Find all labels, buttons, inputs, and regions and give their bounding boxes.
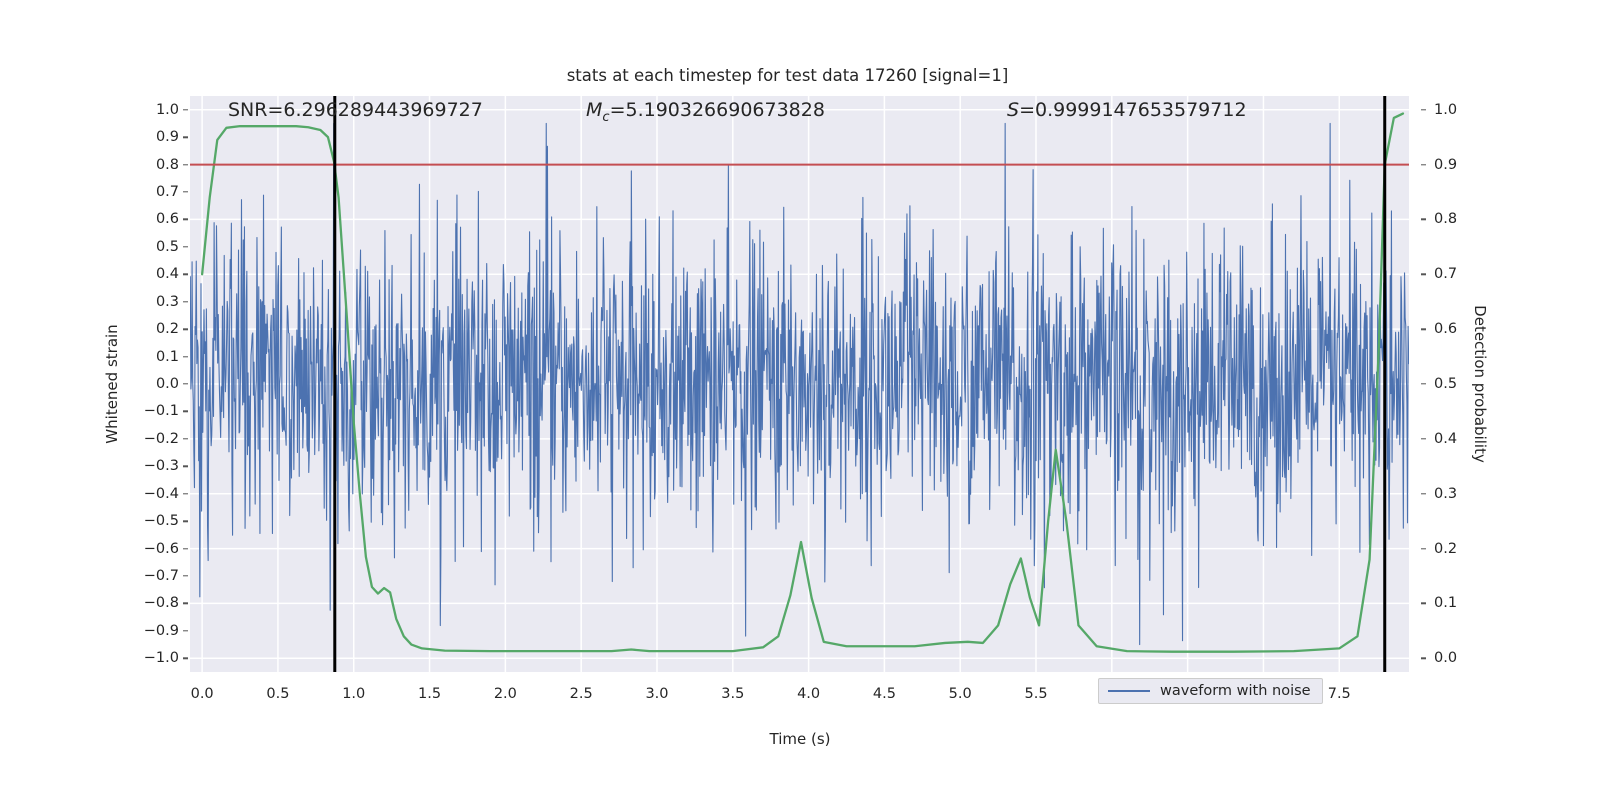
x-tick: 2.5 xyxy=(541,686,621,702)
annotation-chirp-mass: Mc=5.190326690673828 xyxy=(586,99,825,125)
y-tick-left: 0.7 xyxy=(119,184,179,200)
x-tick: 4.0 xyxy=(769,686,849,702)
y-tick-mark-left xyxy=(183,438,188,439)
x-tick: 1.5 xyxy=(390,686,470,702)
y-axis-label-left: Whitened strain xyxy=(103,324,121,443)
y-tick-left: 0.0 xyxy=(119,376,179,392)
y-tick-mark-right xyxy=(1421,383,1426,384)
y-tick-left: −0.8 xyxy=(119,595,179,611)
y-tick-mark-right xyxy=(1421,493,1426,494)
y-tick-mark-left xyxy=(183,603,188,604)
y-tick-left: −0.3 xyxy=(119,458,179,474)
y-tick-right: 1.0 xyxy=(1420,102,1490,118)
annotation-s-label: = xyxy=(1019,99,1035,121)
y-tick-mark-right xyxy=(1421,109,1426,110)
y-tick-mark-left xyxy=(183,575,188,576)
y-tick-mark-left xyxy=(183,520,188,521)
y-tick-mark-left xyxy=(183,658,188,659)
y-tick-mark-left xyxy=(183,356,188,357)
y-tick-left: −0.6 xyxy=(119,541,179,557)
y-tick-mark-right xyxy=(1421,658,1426,659)
y-tick-left: 0.2 xyxy=(119,321,179,337)
y-tick-right: 0.2 xyxy=(1420,541,1490,557)
y-tick-mark-left xyxy=(183,328,188,329)
y-tick-right: 0.0 xyxy=(1420,650,1490,666)
y-tick-mark-right xyxy=(1421,603,1426,604)
annotation-snr-value: 6.296289443969727 xyxy=(283,99,482,121)
y-tick-mark-left xyxy=(183,246,188,247)
x-tick: 2.0 xyxy=(465,686,545,702)
y-tick-right: 0.8 xyxy=(1420,211,1490,227)
x-tick: 3.0 xyxy=(617,686,697,702)
y-tick-left: 0.3 xyxy=(119,294,179,310)
y-tick-left: 0.5 xyxy=(119,239,179,255)
y-tick-mark-left xyxy=(183,301,188,302)
y-tick-left: 1.0 xyxy=(119,102,179,118)
y-tick-left: 0.6 xyxy=(119,211,179,227)
x-tick: 5.0 xyxy=(920,686,1000,702)
y-tick-mark-left xyxy=(183,219,188,220)
overlay-layer xyxy=(190,96,1409,672)
y-tick-left: −0.1 xyxy=(119,403,179,419)
y-tick-right: 0.3 xyxy=(1420,486,1490,502)
y-tick-mark-left xyxy=(183,383,188,384)
y-tick-right: 0.1 xyxy=(1420,595,1490,611)
annotation-mc-symbol: M xyxy=(586,99,602,121)
y-tick-right: 0.9 xyxy=(1420,157,1490,173)
y-tick-mark-left xyxy=(183,411,188,412)
figure-canvas: stats at each timestep for test data 172… xyxy=(0,0,1600,800)
y-tick-mark-left xyxy=(183,136,188,137)
annotation-mc-label: = xyxy=(610,99,626,121)
y-tick-mark-left xyxy=(183,466,188,467)
y-tick-left: 0.9 xyxy=(119,129,179,145)
y-tick-mark-left xyxy=(183,630,188,631)
annotation-snr-label: SNR= xyxy=(228,99,283,121)
y-tick-right: 0.7 xyxy=(1420,266,1490,282)
legend-label-waveform: waveform with noise xyxy=(1160,683,1311,699)
y-tick-mark-left xyxy=(183,191,188,192)
y-tick-left: 0.1 xyxy=(119,349,179,365)
y-tick-mark-left xyxy=(183,493,188,494)
y-tick-mark-right xyxy=(1421,164,1426,165)
y-tick-mark-left xyxy=(183,164,188,165)
y-tick-left: 0.4 xyxy=(119,266,179,282)
x-tick: 4.5 xyxy=(844,686,924,702)
x-tick: 3.5 xyxy=(693,686,773,702)
plot-title: stats at each timestep for test data 172… xyxy=(190,66,1385,85)
annotation-snr: SNR=6.296289443969727 xyxy=(228,99,483,121)
y-tick-left: −0.2 xyxy=(119,431,179,447)
x-tick: 5.5 xyxy=(996,686,1076,702)
y-tick-mark-left xyxy=(183,274,188,275)
y-tick-mark-right xyxy=(1421,219,1426,220)
legend-box: waveform with noise xyxy=(1098,678,1323,704)
x-tick: 1.0 xyxy=(314,686,394,702)
y-tick-mark-right xyxy=(1421,438,1426,439)
y-axis-label-right: Detection probability xyxy=(1471,305,1489,463)
x-tick: 0.0 xyxy=(162,686,242,702)
y-tick-mark-right xyxy=(1421,328,1426,329)
y-tick-mark-right xyxy=(1421,548,1426,549)
x-tick: 0.5 xyxy=(238,686,318,702)
annotation-s-symbol: S xyxy=(1007,99,1019,121)
annotation-score: S=0.9999147653579712 xyxy=(1007,99,1247,121)
y-tick-mark-left xyxy=(183,548,188,549)
annotation-mc-value: 5.190326690673828 xyxy=(625,99,824,121)
y-tick-left: −0.7 xyxy=(119,568,179,584)
y-tick-left: −0.5 xyxy=(119,513,179,529)
y-tick-mark-right xyxy=(1421,274,1426,275)
y-tick-left: 0.8 xyxy=(119,157,179,173)
annotation-mc-subscript: c xyxy=(602,110,609,125)
y-tick-mark-left xyxy=(183,109,188,110)
y-tick-left: −0.9 xyxy=(119,623,179,639)
y-tick-left: −1.0 xyxy=(119,650,179,666)
annotation-s-value: 0.9999147653579712 xyxy=(1035,99,1247,121)
legend-line-waveform xyxy=(1108,690,1150,692)
y-tick-left: −0.4 xyxy=(119,486,179,502)
x-axis-label: Time (s) xyxy=(770,730,831,748)
axes-panel xyxy=(190,96,1409,672)
